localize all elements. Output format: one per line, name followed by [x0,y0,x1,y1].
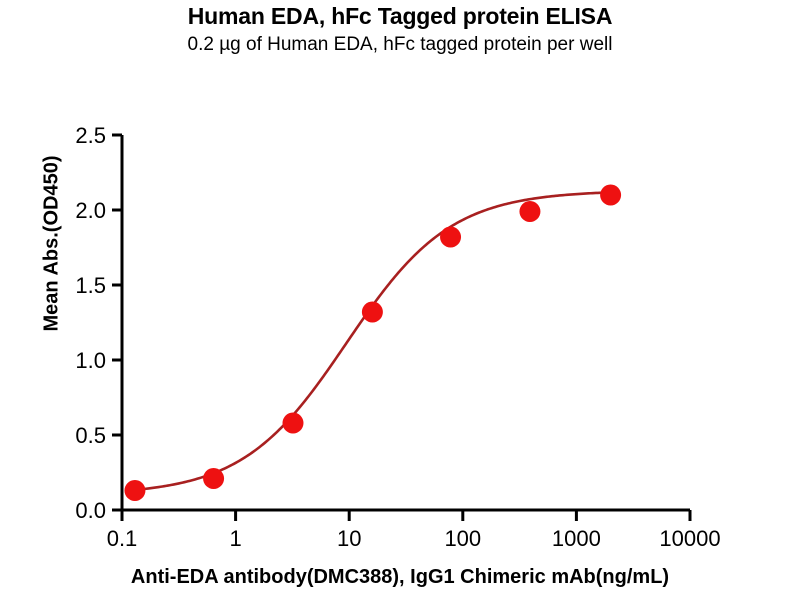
x-tick-label: 10 [337,526,361,551]
y-tick-label: 1.5 [75,273,106,298]
y-tick-label: 0.5 [75,423,106,448]
fit-curve [135,192,611,490]
elisa-chart-figure: Human EDA, hFc Tagged protein ELISA 0.2 … [0,0,800,600]
plot-area: 0.1110100100010000 0.00.51.01.52.02.5 [0,0,800,600]
data-point-marker [282,413,303,434]
y-tick-label: 2.5 [75,123,106,148]
data-point-marker [519,201,540,222]
x-tick-label: 1000 [552,526,601,551]
x-tick-label: 10000 [659,526,720,551]
y-tick-label: 0.0 [75,498,106,523]
x-tick-label: 100 [444,526,481,551]
data-point-marker [600,185,621,206]
y-axis-tick-labels: 0.00.51.01.52.02.5 [75,123,106,523]
y-tick-label: 2.0 [75,198,106,223]
x-tick-label: 0.1 [107,526,138,551]
x-axis-tick-labels: 0.1110100100010000 [107,526,721,551]
axes-group: 0.1110100100010000 0.00.51.01.52.02.5 [75,123,720,551]
data-point-marker [124,480,145,501]
x-tick-label: 1 [229,526,241,551]
data-point-marker [362,302,383,323]
fit-curve-path [135,192,611,490]
y-tick-label: 1.0 [75,348,106,373]
data-point-marker [440,227,461,248]
data-markers [124,185,621,502]
x-axis-ticks [122,510,690,521]
data-point-marker [203,468,224,489]
